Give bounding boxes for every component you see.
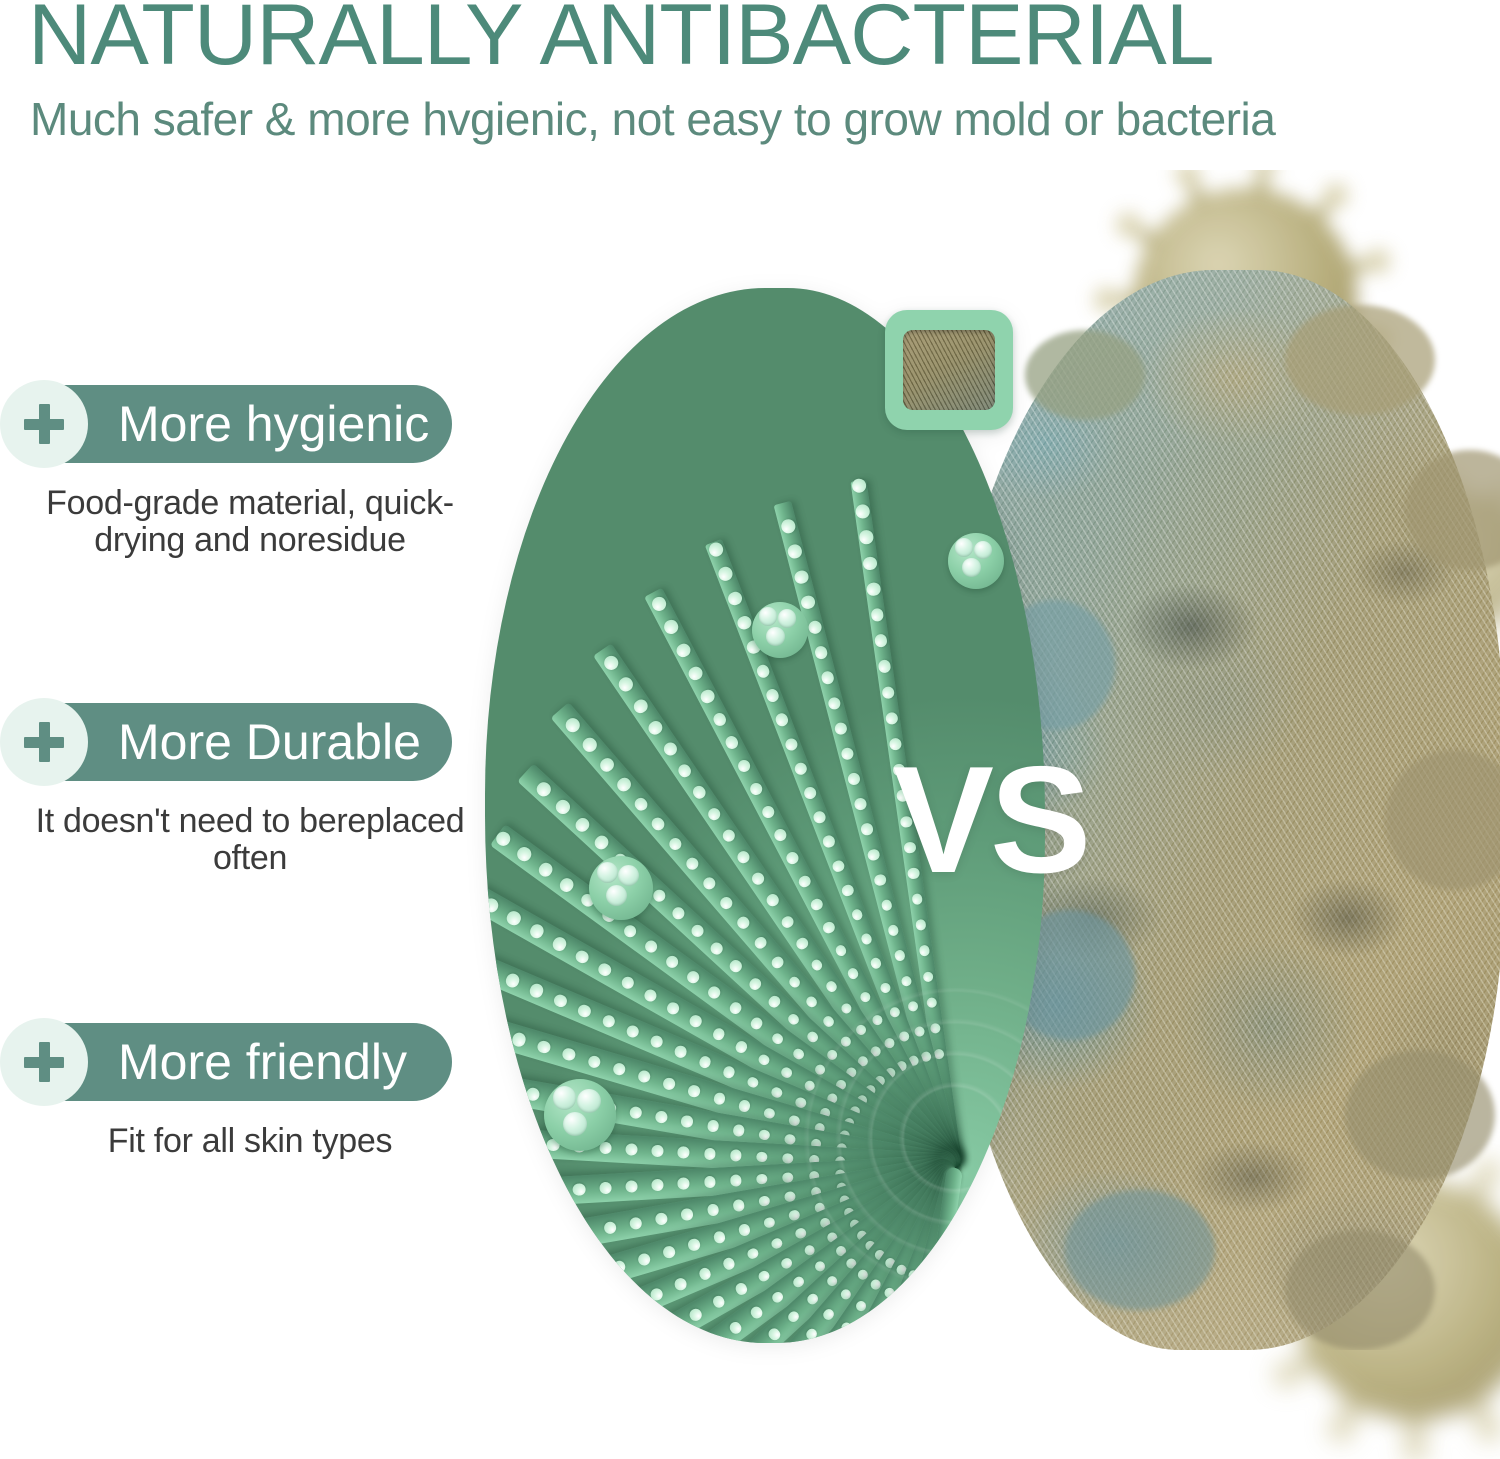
feature-item-more-durable: More Durable It doesn't need to bereplac… [0, 703, 500, 878]
scrubber-nub [948, 533, 1004, 589]
feature-pill: More hygienic [8, 385, 452, 463]
feature-pill: More friendly [8, 1023, 452, 1101]
feature-description: It doesn't need to bereplaced often [0, 803, 500, 878]
feature-label: More friendly [118, 1023, 407, 1101]
loofah-ruffle [1345, 1050, 1495, 1180]
scrubber-nub [752, 602, 808, 658]
vs-label: VS [870, 740, 1110, 900]
plus-icon [0, 1018, 88, 1106]
loofah-ruffle [1285, 305, 1435, 415]
loofah-ruffle [1285, 1230, 1435, 1350]
product-comparison-image: VS [455, 170, 1500, 1459]
feature-label: More Durable [118, 703, 421, 781]
page-subtitle: Much safer & more hvgienic, not easy to … [30, 96, 1470, 142]
loofah-ruffle [1025, 330, 1145, 420]
page-title: NATURALLY ANTIBACTERIAL [28, 0, 1500, 78]
feature-description: Food-grade material, quick-drying and no… [0, 485, 500, 560]
scrubber-nub [589, 856, 653, 920]
header-banner: NATURALLY ANTIBACTERIAL Much safer & mor… [0, 0, 1500, 170]
feature-label: More hygienic [118, 385, 429, 463]
loofah-ruffle [1065, 1190, 1215, 1310]
feature-pill: More Durable [8, 703, 452, 781]
feature-item-more-hygienic: More hygienic Food-grade material, quick… [0, 385, 500, 560]
plus-icon [0, 698, 88, 786]
plus-icon [0, 380, 88, 468]
feature-description: Fit for all skin types [0, 1123, 500, 1160]
feature-item-more-friendly: More friendly Fit for all skin types [0, 1023, 500, 1160]
